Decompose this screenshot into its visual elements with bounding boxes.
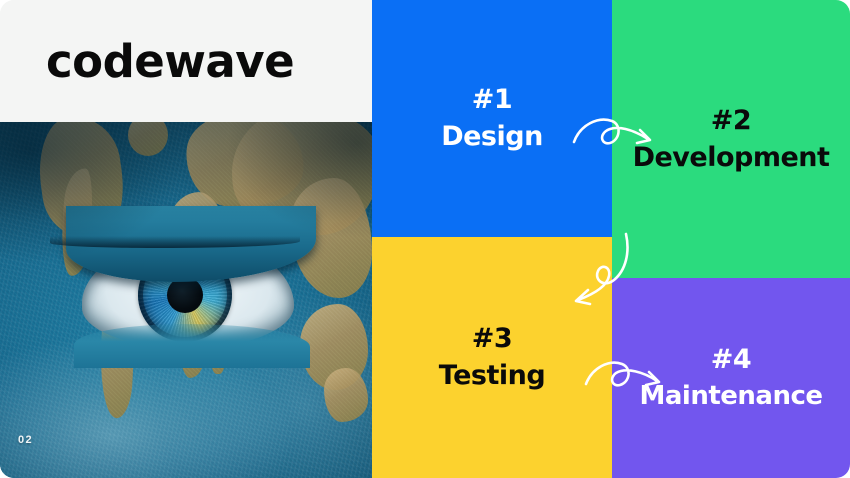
step-label-design: Design — [441, 121, 543, 153]
step-label-testing: Testing — [439, 360, 545, 392]
logo-panel: codewave — [0, 0, 372, 122]
step-label-maintenance: Maintenance — [639, 381, 822, 412]
step-number-2: #2 — [711, 105, 751, 137]
step-number-4: #4 — [711, 344, 751, 376]
process-steps-grid: #1 Design #2 Development #3 Testing #4 M… — [372, 0, 850, 478]
step-number-3: #3 — [472, 323, 512, 355]
brand-logo-text: codewave — [46, 35, 294, 88]
step-card-maintenance[interactable]: #4 Maintenance — [612, 278, 850, 478]
step-number-1: #1 — [472, 84, 512, 116]
eye-world-map-photo: 02 — [0, 122, 372, 478]
page-number: 02 — [18, 434, 33, 446]
slide-canvas: codewave — [0, 0, 850, 478]
step-card-development[interactable]: #2 Development — [612, 0, 850, 278]
step-card-testing[interactable]: #3 Testing — [372, 237, 612, 478]
step-card-design[interactable]: #1 Design — [372, 0, 612, 237]
step-label-development: Development — [633, 142, 830, 174]
photo-shadow-layer — [0, 122, 372, 478]
left-column: codewave — [0, 0, 372, 478]
